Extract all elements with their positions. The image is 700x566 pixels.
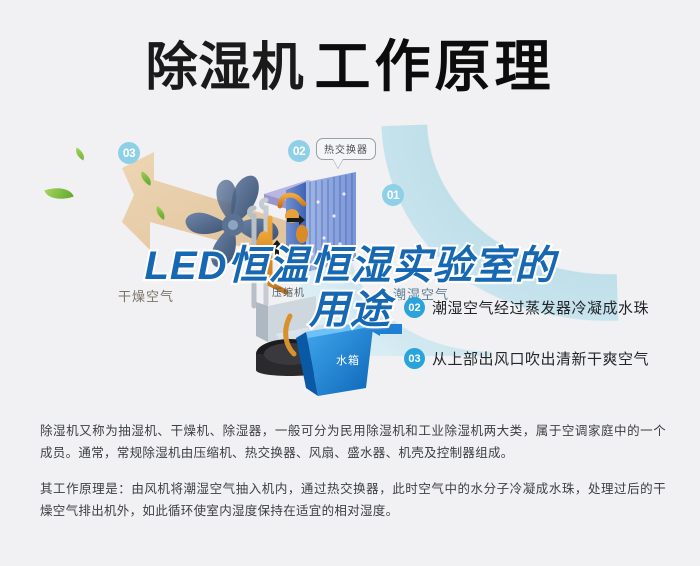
step-badge: 03 (404, 348, 425, 369)
compressor-label: 压缩机 (272, 284, 305, 299)
dry-air-label: 干燥空气 (118, 286, 174, 305)
dehumidifier-unit-icon (246, 156, 396, 406)
step-text: 从上部出风口吹出清新干爽空气 (432, 348, 649, 369)
body-paragraph-2: 其工作原理是：由风机将潮湿空气抽入机内，通过热交换器，此时空气中的水分子冷凝成水… (40, 478, 666, 522)
leaf-icon (44, 182, 73, 204)
step-badge: 02 (404, 297, 425, 318)
diagram-badge-02: 02 (288, 140, 310, 162)
diagram-badge-01: 01 (382, 184, 404, 206)
step-item: 03 从上部出风口吹出清新干爽空气 (404, 348, 700, 369)
page-title-part2: 工作原理 (315, 35, 555, 98)
step-list: 02 潮湿空气经过蒸发器冷凝成水珠 03 从上部出风口吹出清新干爽空气 (404, 297, 700, 369)
step-item: 02 潮湿空气经过蒸发器冷凝成水珠 (404, 297, 700, 318)
page-title-part1: 除湿机 (145, 39, 304, 97)
heat-exchanger-callout: 热交换器 (316, 138, 376, 160)
body-paragraph-1: 除湿机又称为抽湿机、干燥机、除湿器，一般可分为民用除湿机和工业除湿机两大类，属于… (40, 420, 666, 464)
diagram-badge-03: 03 (118, 142, 140, 164)
step-text: 潮湿空气经过蒸发器冷凝成水珠 (432, 297, 649, 318)
page-title: 除湿机工作原理 (0, 22, 700, 103)
page-root: 除湿机工作原理 干燥空气 潮湿空气 (0, 0, 700, 566)
water-tank-label: 水箱 (336, 352, 360, 368)
leaf-icon (73, 148, 87, 161)
body-copy: 除湿机又称为抽湿机、干燥机、除湿器，一般可分为民用除湿机和工业除湿机两大类，属于… (40, 420, 666, 522)
air-inlet-arrow-icon (368, 322, 402, 336)
